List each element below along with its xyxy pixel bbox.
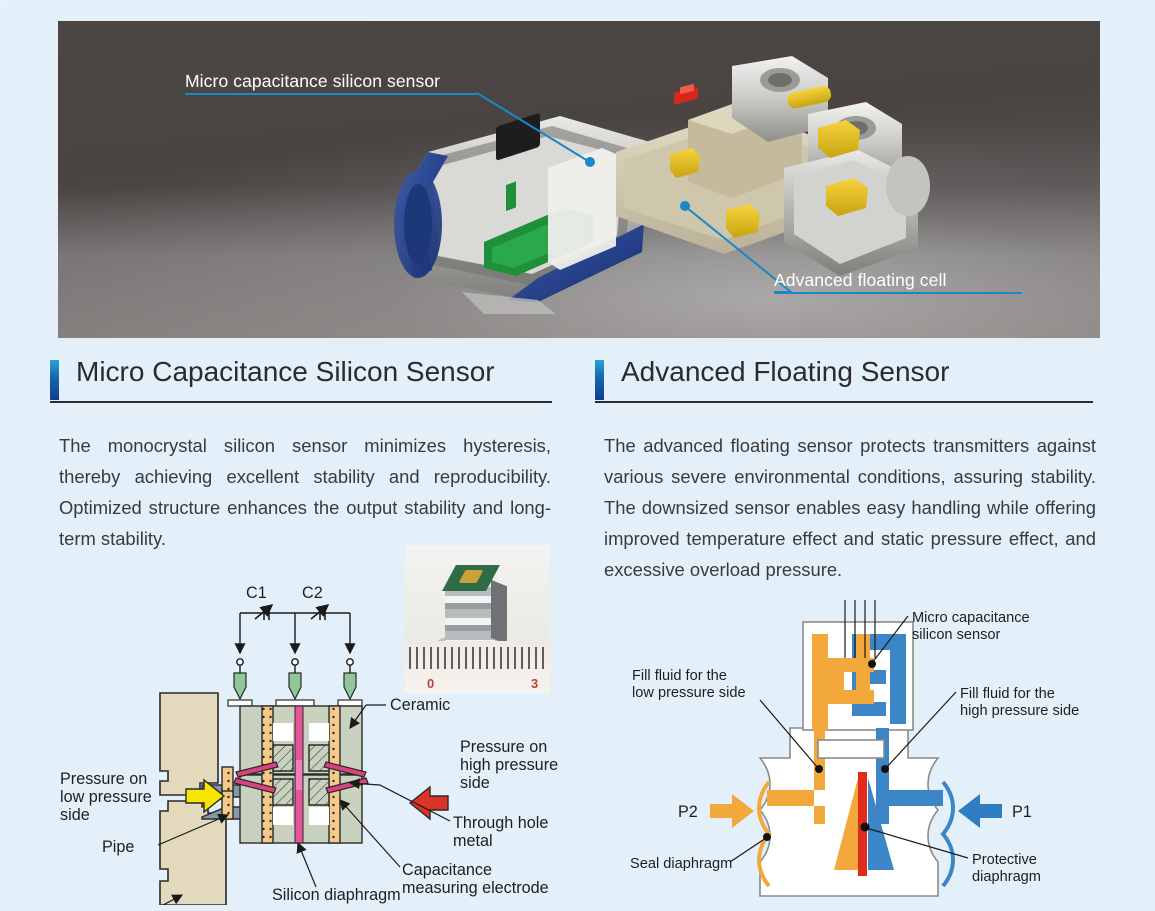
section-header: Micro Capacitance Silicon Sensor bbox=[50, 358, 560, 406]
svg-text:side: side bbox=[460, 774, 490, 792]
hero-callout-label: Advanced floating cell bbox=[774, 270, 946, 290]
cross-section-drawing-right: P2 P1 Micro capacitance silicon sensor F… bbox=[620, 600, 1120, 905]
figure-micro-capacitance-cross-section: 0 3 bbox=[50, 545, 570, 905]
column-advanced-floating-sensor: Advanced Floating Sensor The advanced fl… bbox=[595, 358, 1105, 585]
svg-text:low pressure side: low pressure side bbox=[632, 685, 746, 701]
hero-callout-advanced-floating-cell: Advanced floating cell bbox=[774, 270, 946, 291]
label-pressure-low: Pressure on low pressure side bbox=[60, 770, 152, 824]
header-rule bbox=[595, 401, 1093, 403]
svg-text:Pressure on: Pressure on bbox=[460, 738, 547, 756]
p2-pressure-arrow-icon bbox=[710, 794, 754, 828]
figure-advanced-floating-cell: P2 P1 Micro capacitance silicon sensor F… bbox=[620, 600, 1120, 905]
label-pressure-high: Pressure on high pressure side bbox=[460, 738, 558, 792]
electrode-leads bbox=[237, 643, 353, 673]
capacitor-label-c2: C2 bbox=[302, 584, 323, 602]
svg-text:measuring electrode: measuring electrode bbox=[402, 879, 549, 897]
label-p2: P2 bbox=[678, 803, 698, 821]
svg-text:Protective: Protective bbox=[972, 852, 1037, 868]
electrode-pads bbox=[228, 700, 362, 706]
header-rule bbox=[50, 401, 552, 403]
green-arrows bbox=[234, 673, 356, 699]
body-text-right: The advanced floating sensor protects tr… bbox=[604, 430, 1096, 585]
svg-text:low pressure: low pressure bbox=[60, 788, 152, 806]
page-title-left: Micro Capacitance Silicon Sensor bbox=[76, 356, 495, 388]
label-ceramic: Ceramic bbox=[350, 696, 450, 728]
label-p1: P1 bbox=[1012, 803, 1032, 821]
svg-text:Fill fluid for the: Fill fluid for the bbox=[632, 668, 727, 684]
body-text-left: The monocrystal silicon sensor minimizes… bbox=[59, 430, 551, 554]
housing-slot bbox=[818, 740, 884, 758]
label-through-hole-metal: Through hole metal bbox=[350, 783, 548, 850]
svg-text:side: side bbox=[60, 806, 90, 824]
svg-text:Pipe: Pipe bbox=[102, 838, 134, 856]
label-silicon-diaphragm: Silicon diaphragm bbox=[272, 843, 401, 904]
svg-text:Through hole: Through hole bbox=[453, 814, 548, 832]
callout-underline bbox=[185, 93, 477, 95]
section-header: Advanced Floating Sensor bbox=[595, 358, 1105, 406]
page-root: Micro capacitance silicon sensor Advance… bbox=[0, 0, 1155, 911]
svg-text:Ceramic: Ceramic bbox=[390, 696, 450, 714]
svg-text:Fill fluid for the: Fill fluid for the bbox=[960, 686, 1055, 702]
capacitor-label-c1: C1 bbox=[246, 584, 267, 602]
svg-text:Seal diaphragm: Seal diaphragm bbox=[630, 856, 732, 872]
p1-pressure-arrow-icon bbox=[958, 794, 1002, 828]
hero-image: Micro capacitance silicon sensor Advance… bbox=[58, 21, 1100, 338]
page-title-right: Advanced Floating Sensor bbox=[621, 356, 949, 388]
column-micro-capacitance-silicon-sensor: Micro Capacitance Silicon Sensor The mon… bbox=[50, 358, 560, 554]
accent-bar-icon bbox=[595, 360, 604, 400]
svg-text:high pressure side: high pressure side bbox=[960, 703, 1079, 719]
paragraph: The monocrystal silicon sensor minimizes… bbox=[59, 430, 551, 554]
paragraph: The advanced floating sensor protects tr… bbox=[604, 430, 1096, 585]
svg-text:Capacitance: Capacitance bbox=[402, 861, 492, 879]
svg-text:high pressure: high pressure bbox=[460, 756, 558, 774]
svg-text:metal: metal bbox=[453, 832, 493, 850]
svg-text:Pressure on: Pressure on bbox=[60, 770, 147, 788]
hero-callout-micro-capacitance-silicon-sensor: Micro capacitance silicon sensor bbox=[185, 71, 440, 92]
accent-bar-icon bbox=[50, 360, 59, 400]
svg-text:silicon sensor: silicon sensor bbox=[912, 627, 1001, 643]
svg-text:diaphragm: diaphragm bbox=[972, 869, 1041, 885]
hero-callout-label: Micro capacitance silicon sensor bbox=[185, 71, 440, 91]
cross-section-drawing-left: C1 C2 bbox=[50, 545, 570, 905]
svg-text:Silicon diaphragm: Silicon diaphragm bbox=[272, 886, 401, 904]
callout-underline bbox=[774, 292, 1022, 294]
label-seal-diaphragm: Seal diaphragm bbox=[630, 833, 771, 872]
svg-text:Micro capacitance: Micro capacitance bbox=[912, 610, 1030, 626]
